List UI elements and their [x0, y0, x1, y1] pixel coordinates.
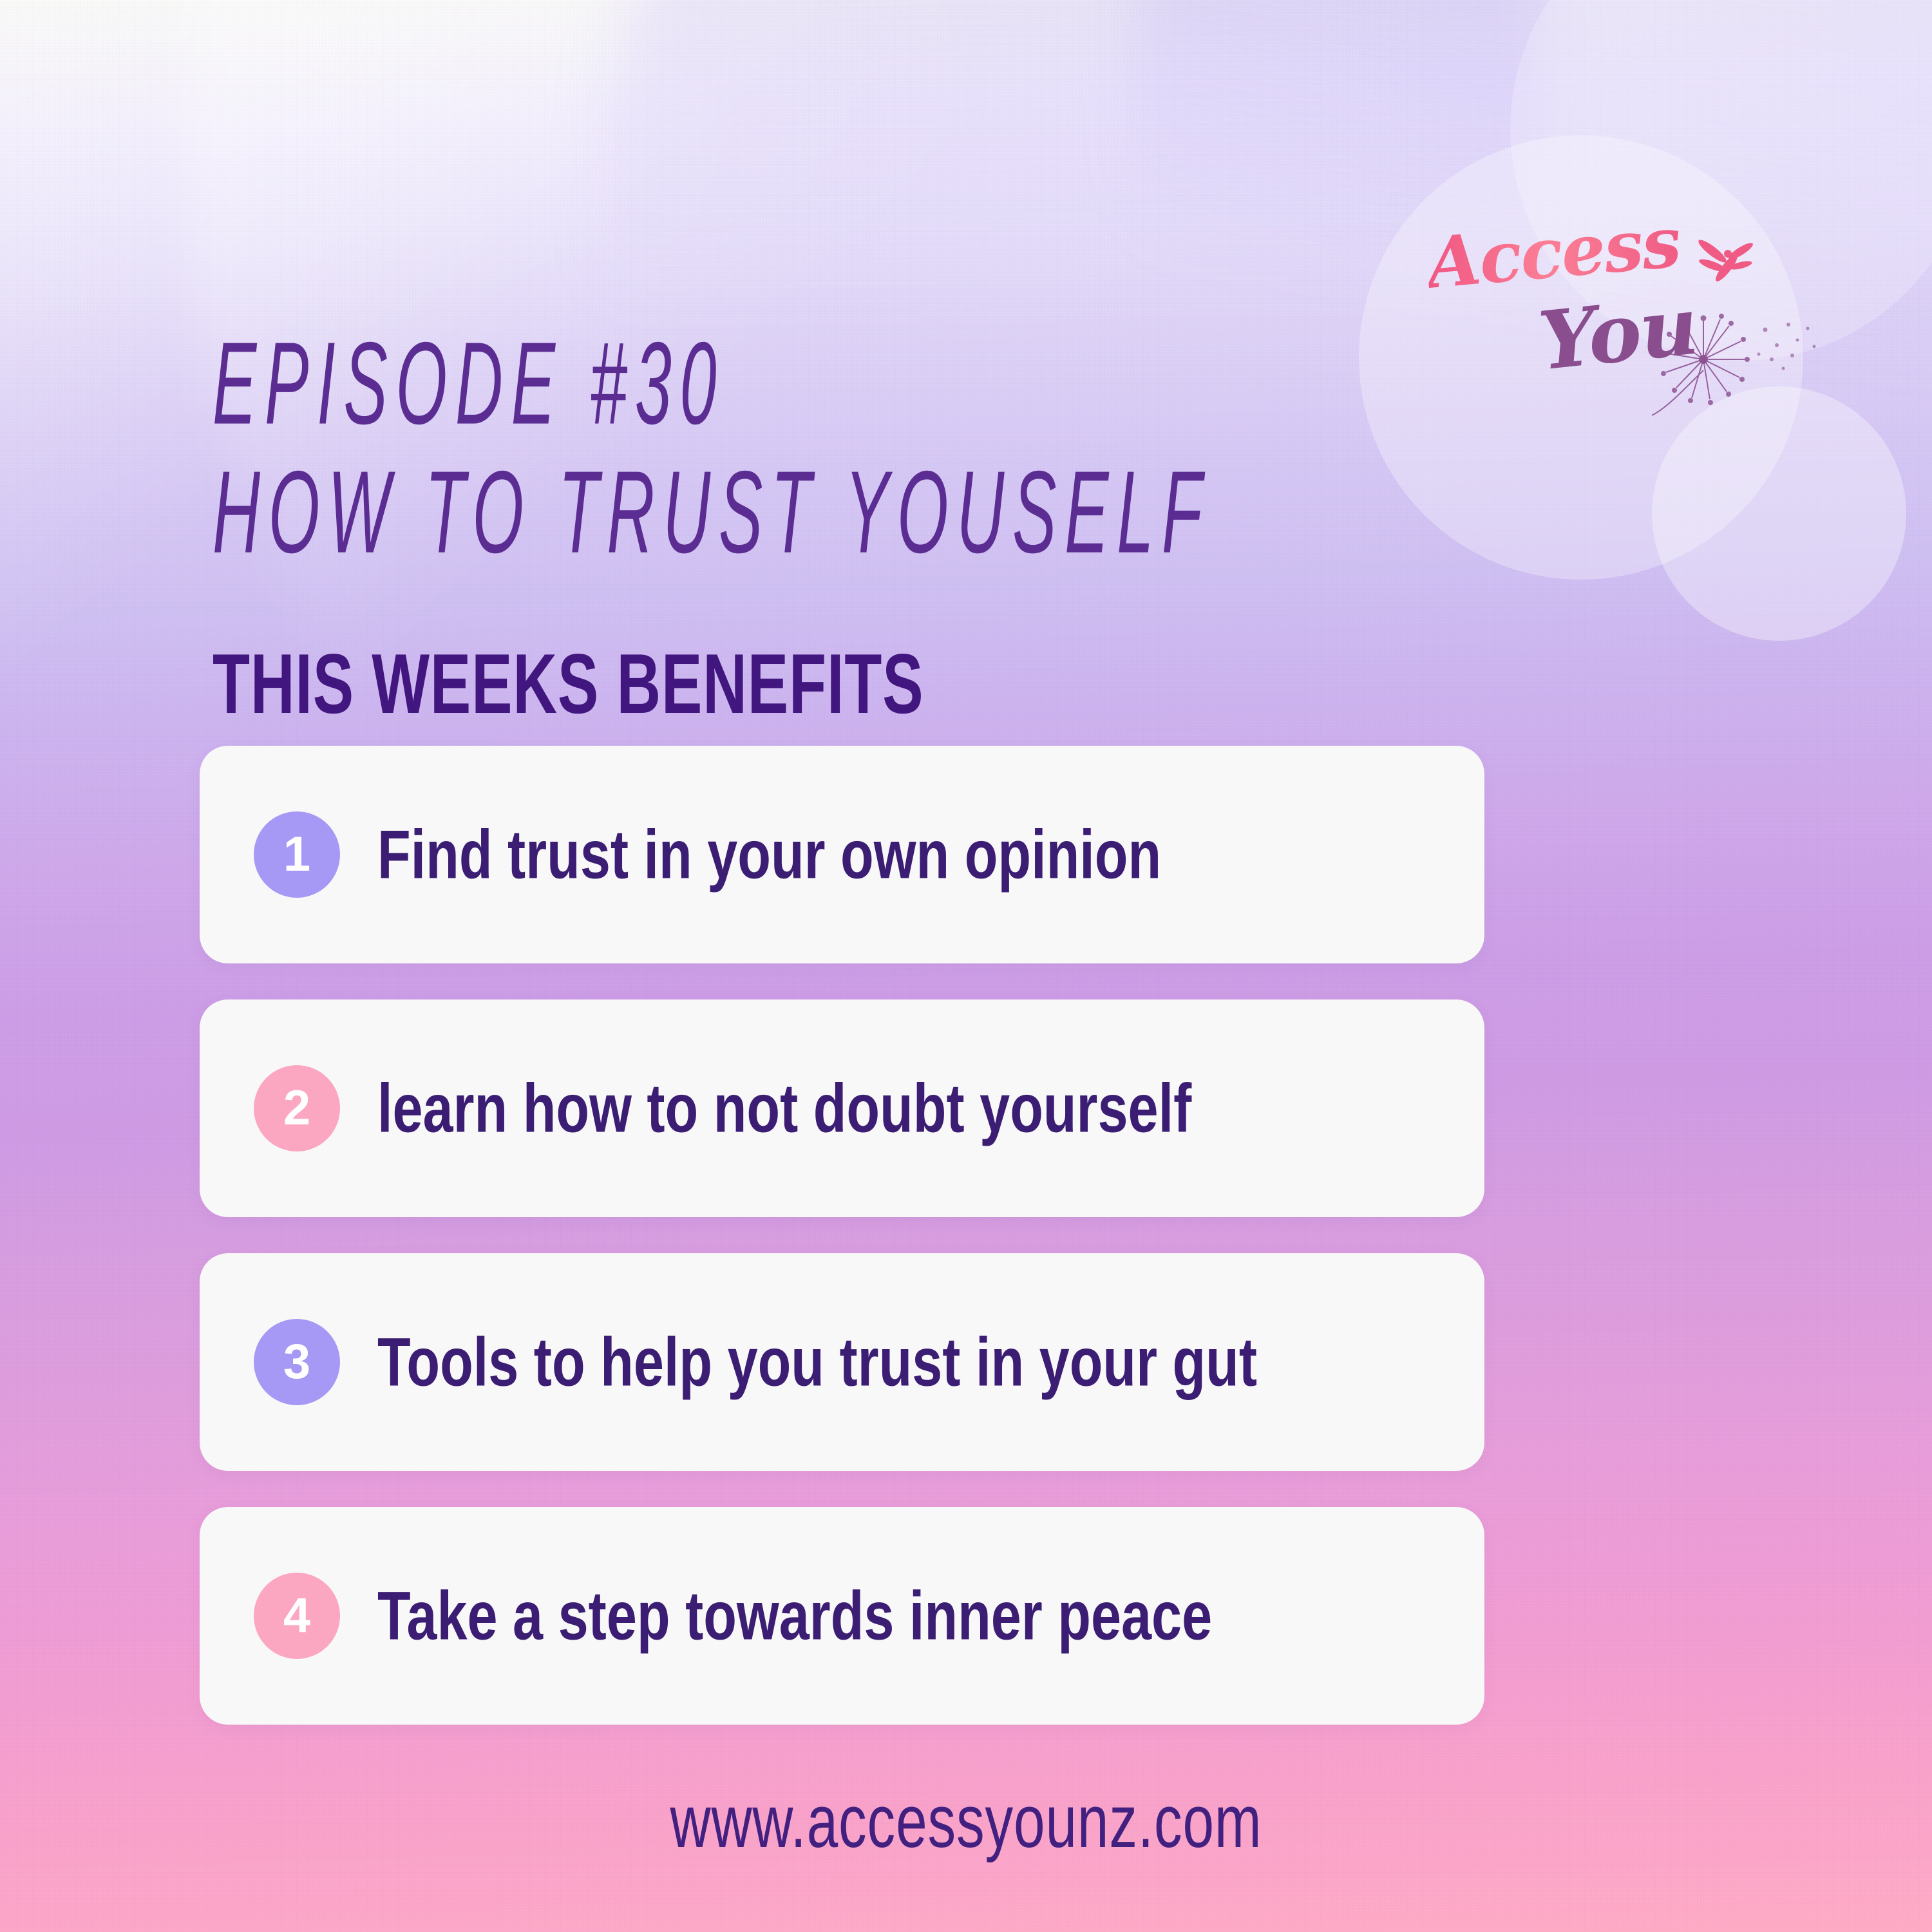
- benefit-card-3[interactable]: 3 Tools to help you trust in your gut: [200, 1253, 1484, 1471]
- episode-title: HOW TO TRUST YOUSELF: [213, 451, 1320, 575]
- benefit-text-2: learn how to not doubt yourself: [377, 1068, 1191, 1148]
- episode-number: EPISODE #30: [213, 322, 1320, 446]
- benefit-badge-3: 3: [254, 1319, 340, 1405]
- dragonfly-icon: [1684, 232, 1768, 303]
- benefit-text-3: Tools to help you trust in your gut: [377, 1322, 1257, 1401]
- section-heading: THIS WEEKS BENEFITS: [213, 634, 923, 733]
- page-title: EPISODE #30 HOW TO TRUST YOUSELF: [213, 322, 1597, 538]
- benefit-badge-2: 2: [254, 1065, 340, 1151]
- benefit-card-4[interactable]: 4 Take a step towards inner peace: [200, 1507, 1484, 1725]
- benefit-card-2[interactable]: 2 learn how to not doubt yourself: [200, 999, 1484, 1217]
- benefit-badge-4: 4: [254, 1573, 340, 1659]
- benefit-card-1[interactable]: 1 Find trust in your own opinion: [200, 746, 1484, 963]
- benefit-text-1: Find trust in your own opinion: [377, 815, 1161, 894]
- footer-website-url[interactable]: www.accessyounz.com: [0, 1784, 1932, 1861]
- poster-canvas: Access You EPISODE #30 HOW TO TRUST YOUS…: [0, 0, 1932, 1932]
- footer-website-url-text: www.accessyounz.com: [670, 1779, 1262, 1865]
- benefit-badge-1: 1: [254, 811, 340, 898]
- benefit-text-4: Take a step towards inner peace: [377, 1576, 1212, 1655]
- benefits-list: 1 Find trust in your own opinion 2 learn…: [200, 746, 1484, 1761]
